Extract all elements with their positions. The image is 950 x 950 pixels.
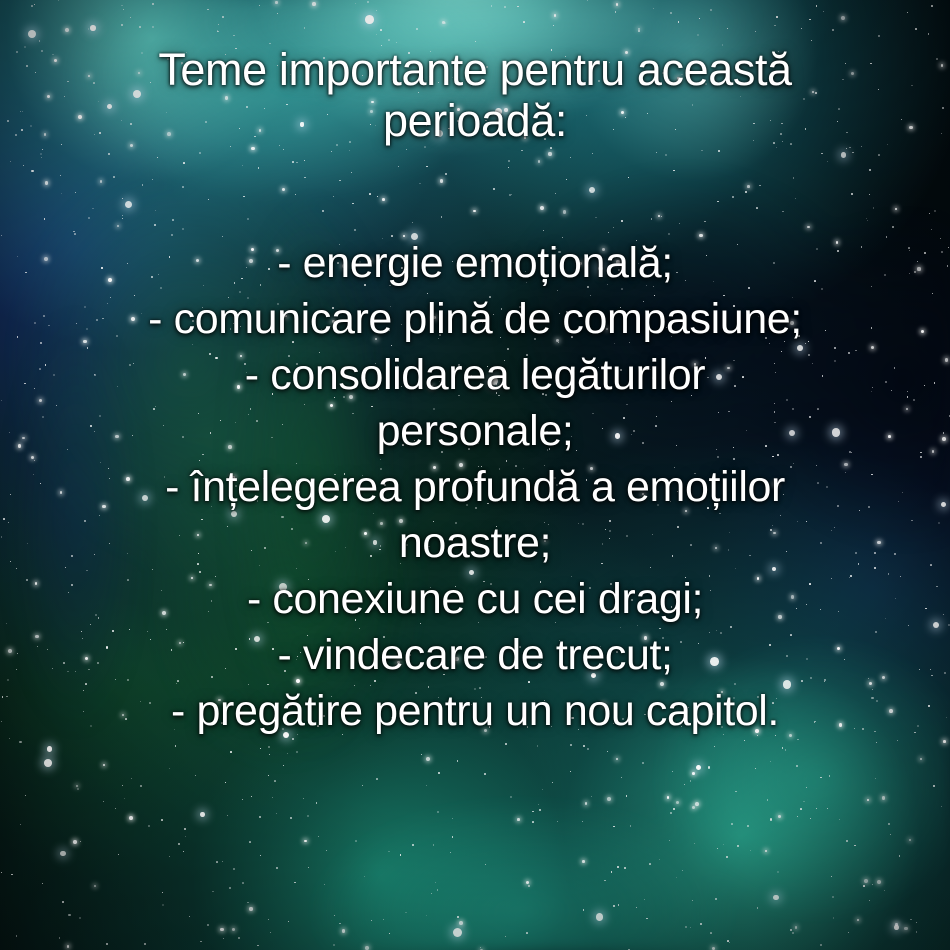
quote-card: Teme importante pentru această perioadă:… [0,0,950,950]
list-item: - energie emoțională; [26,239,924,288]
title-line-2: perioadă: [26,95,924,146]
list-item: - pregătire pentru un nou capitol. [26,687,924,736]
quote-text-block: Teme importante pentru această perioadă:… [0,0,950,950]
list-item: noastre; [26,519,924,568]
list-item: - conexiune cu cei dragi; [26,575,924,624]
list-item: - comunicare plină de compasiune; [26,295,924,344]
title-body-spacer [26,147,924,239]
list-item: personale; [26,407,924,456]
list-item: - consolidarea legăturilor [26,351,924,400]
list-item: - vindecare de trecut; [26,631,924,680]
list-item: - înțelegerea profundă a emoțiilor [26,463,924,512]
title-line-1: Teme importante pentru această [26,44,924,95]
